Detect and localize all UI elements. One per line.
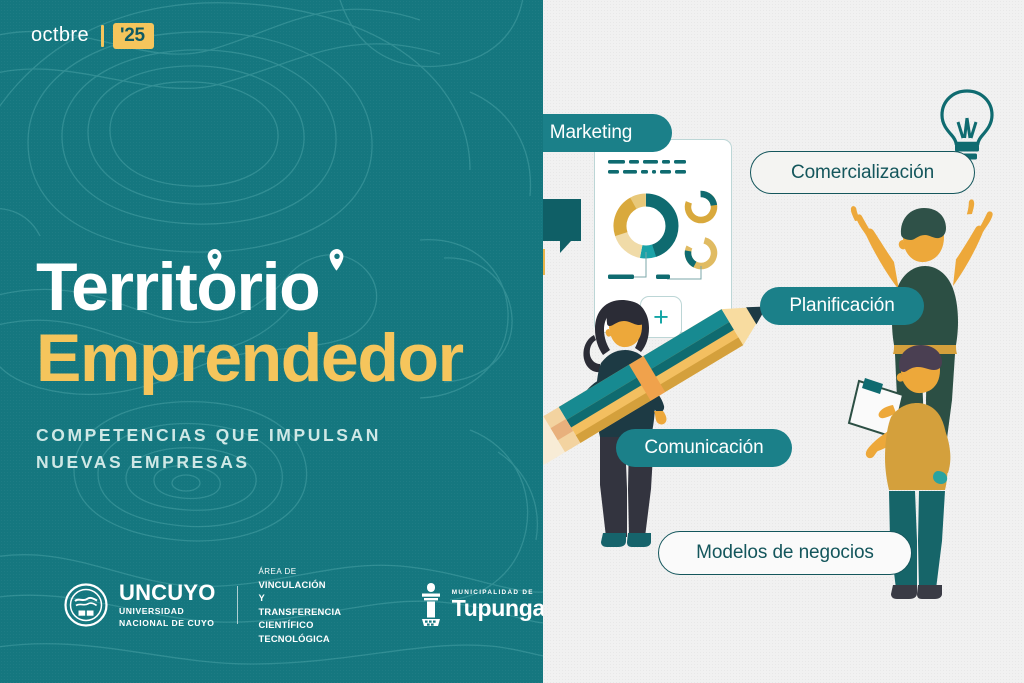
poster-canvas: octbre '25 Territorio Emprendedor COMPET…: [0, 0, 1024, 683]
topic-pill-comercializacion[interactable]: Comercialización: [750, 151, 975, 194]
topic-pill-modelos-label: Modelos de negocios: [696, 542, 874, 564]
title-line-2: Emprendedor: [36, 326, 536, 391]
topic-pill-comunicacion[interactable]: Comunicación: [616, 429, 792, 467]
subtitle-line-2: NUEVAS EMPRESAS: [36, 449, 536, 476]
uncuyo-emblem-icon: [64, 583, 108, 627]
logo-tupungato: MUNICIPALIDAD DE Tupungato: [418, 581, 543, 629]
topic-pill-planificacion-label: Planificación: [789, 295, 894, 317]
topic-pill-comercializacion-label: Comercialización: [791, 162, 934, 184]
uncuyo-area-text: ÁREA DE VINCULACIÓN Y TRANSFERENCIA CIEN…: [258, 565, 341, 645]
title-block: Territorio Emprendedor COMPETENCIAS QUE …: [36, 255, 536, 476]
uncuyo-sub-1: UNIVERSIDAD: [119, 607, 216, 616]
logo-uncuyo: UNCUYO UNIVERSIDAD NACIONAL DE CUYO ÁREA…: [64, 565, 342, 645]
subtitle-line-1: COMPETENCIAS QUE IMPULSAN: [36, 422, 536, 449]
uncuyo-name: UNCUYO: [119, 582, 216, 604]
area-prefix: ÁREA DE: [258, 567, 296, 576]
topic-pill-comunicacion-label: Comunicación: [644, 437, 763, 459]
topic-pill-planificacion[interactable]: Planificación: [760, 287, 924, 325]
tupungato-monument-icon: [418, 581, 444, 629]
right-illustration-panel: + Marketing Comercialización Planificaci…: [543, 0, 1024, 683]
date-year-badge: '25: [113, 23, 154, 49]
speech-bubble-dark-icon: [543, 199, 581, 241]
person-man-clipboard: [843, 345, 978, 617]
tupungato-wordmark: MUNICIPALIDAD DE Tupungato: [452, 590, 543, 620]
title-line-1-text: Territorio: [36, 249, 319, 325]
date-month-label: octbre: [31, 24, 89, 47]
logo-divider: [237, 586, 238, 624]
tupungato-name: Tupungato: [452, 597, 543, 620]
speech-bubble-gold-icon: [543, 249, 545, 275]
uncuyo-wordmark: UNCUYO UNIVERSIDAD NACIONAL DE CUYO: [119, 582, 216, 627]
topic-pill-modelos-de-negocios[interactable]: Modelos de negocios: [658, 531, 912, 575]
date-badge: octbre '25: [31, 22, 154, 49]
area-line-2: Y TRANSFERENCIA: [258, 592, 341, 616]
subtitle-block: COMPETENCIAS QUE IMPULSAN NUEVAS EMPRESA…: [36, 422, 536, 476]
uncuyo-sub-2: NACIONAL DE CUYO: [119, 619, 216, 628]
title-line-1: Territorio: [36, 255, 536, 320]
topic-pill-marketing[interactable]: Marketing: [543, 114, 672, 152]
area-line-1: VINCULACIÓN: [258, 579, 325, 590]
topic-pill-marketing-label: Marketing: [550, 122, 633, 144]
left-teal-panel: octbre '25 Territorio Emprendedor COMPET…: [0, 0, 543, 683]
logo-row: UNCUYO UNIVERSIDAD NACIONAL DE CUYO ÁREA…: [64, 565, 543, 645]
area-line-3: CIENTÍFICO TECNOLÓGICA: [258, 619, 329, 643]
date-separator: [101, 25, 104, 47]
